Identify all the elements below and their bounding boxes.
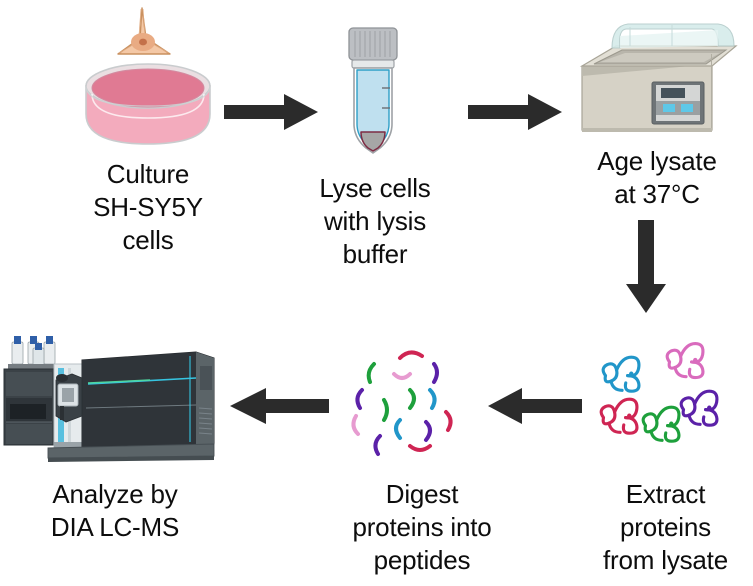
- caption-age: Age lysate at 37°C: [562, 145, 752, 211]
- water-bath-incubator-icon: [582, 24, 736, 132]
- arrow-digest-to-analyze: [226, 384, 331, 428]
- arrow-age-to-extract: [620, 218, 672, 316]
- ion-source-housing: [56, 374, 82, 422]
- step-lyse-icon: [330, 20, 416, 160]
- folded-proteins-icon: [601, 344, 717, 442]
- peptide-fragments-icon: [353, 352, 450, 454]
- lc-ms-instrument-icon: [4, 336, 214, 462]
- arrow-culture-to-lyse: [222, 90, 322, 134]
- solvent-bottles: [8, 336, 60, 374]
- lc-module-stack: [4, 369, 54, 445]
- arrow-lyse-to-age: [466, 90, 566, 134]
- caption-extract: Extract proteins from lysate: [578, 478, 753, 577]
- step-age-icon: [572, 14, 742, 142]
- step-culture-icon: [78, 2, 218, 150]
- caption-lyse: Lyse cells with lysis buffer: [285, 172, 465, 271]
- caption-culture: Culture SH-SY5Y cells: [48, 158, 248, 257]
- petri-dish-icon: [86, 64, 210, 144]
- step-analyze-icon: [0, 312, 222, 464]
- step-extract-icon: [592, 334, 742, 458]
- control-panel: [652, 82, 704, 124]
- neuron-cell-icon: [118, 8, 170, 54]
- caption-analyze: Analyze by DIA LC-MS: [10, 478, 220, 544]
- caption-digest: Digest proteins into peptides: [322, 478, 522, 577]
- step-digest-icon: [338, 336, 484, 460]
- arrow-extract-to-digest: [484, 384, 584, 428]
- microcentrifuge-tube-icon: [349, 28, 397, 153]
- workflow-diagram: Culture SH-SY5Y cells: [0, 0, 753, 586]
